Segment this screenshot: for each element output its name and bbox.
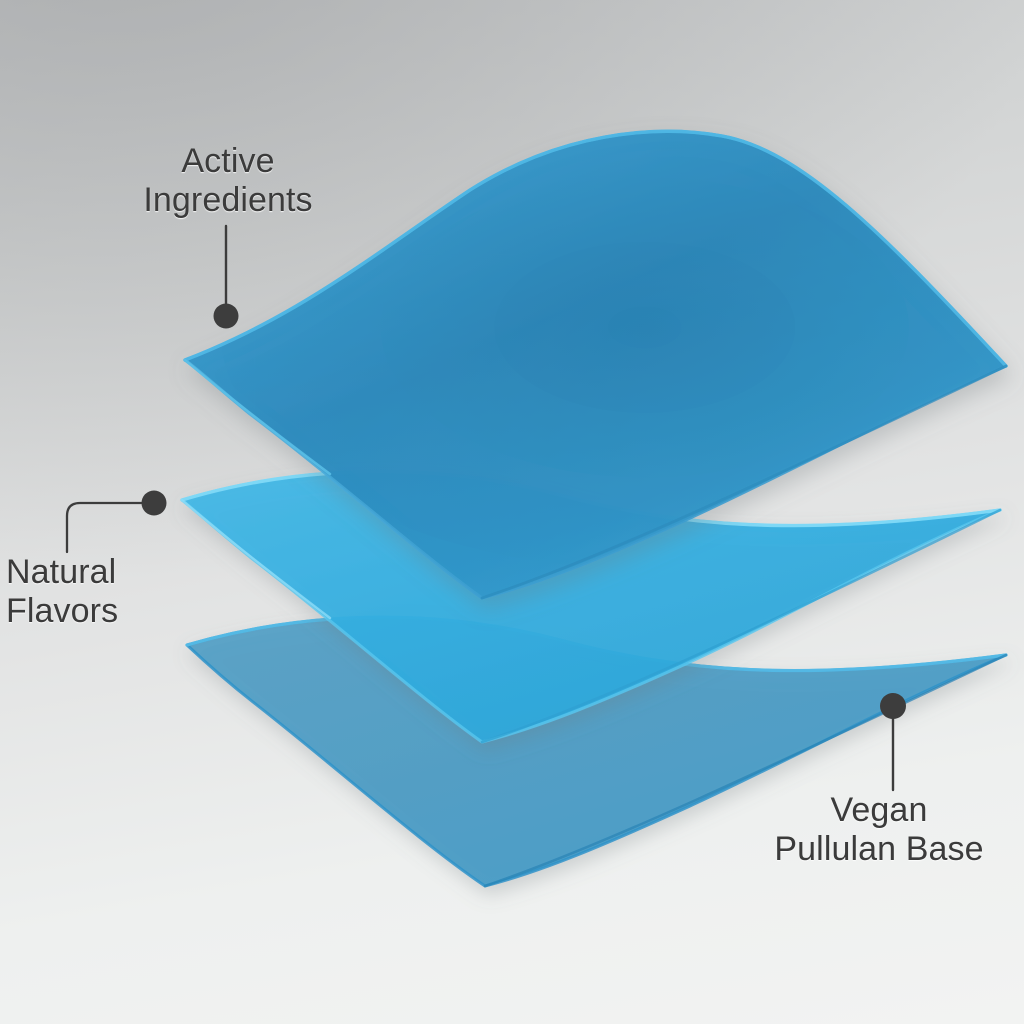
illustration-canvas: Active Ingredients Natural Flavors Vegan… — [0, 0, 1024, 1024]
callout-label-active-ingredients-line1: Active — [130, 142, 326, 181]
leader-line-natural-flavors — [67, 503, 143, 552]
callout-label-natural-flavors: Natural Flavors — [6, 553, 186, 631]
callout-label-vegan-pullulan-base-line2: Pullulan Base — [744, 830, 1014, 869]
callout-label-active-ingredients-line2: Ingredients — [130, 181, 326, 220]
callout-dot-natural-flavors[interactable] — [142, 491, 167, 516]
callout-label-natural-flavors-line2: Flavors — [6, 592, 186, 631]
callout-label-vegan-pullulan-base: Vegan Pullulan Base — [744, 791, 1014, 869]
callout-label-natural-flavors-line1: Natural — [6, 553, 186, 592]
callout-dot-active-ingredients[interactable] — [214, 304, 239, 329]
callout-label-vegan-pullulan-base-line1: Vegan — [744, 791, 1014, 830]
callout-dot-vegan-pullulan-base[interactable] — [880, 693, 906, 719]
callout-label-active-ingredients: Active Ingredients — [130, 142, 326, 220]
